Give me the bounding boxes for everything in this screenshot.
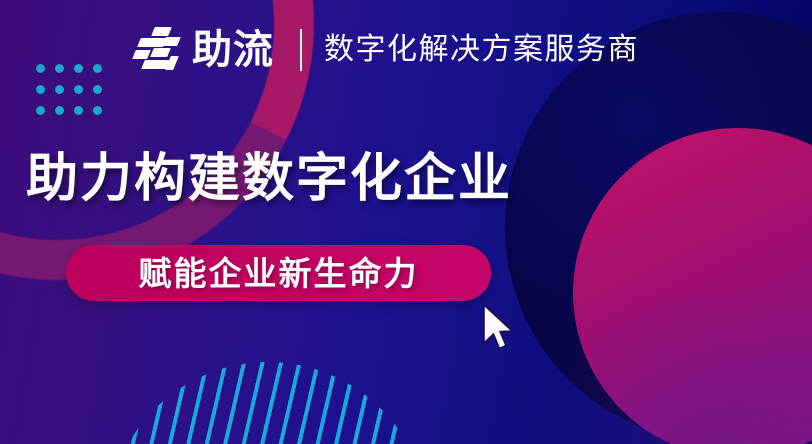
grid-dot [55, 106, 64, 115]
grid-dot [93, 106, 102, 115]
grid-dot [55, 64, 64, 73]
grid-dot [36, 64, 45, 73]
grid-dot [74, 64, 83, 73]
corner-glow [502, 294, 812, 444]
grid-dot [93, 64, 102, 73]
promotional-banner: 助流 数字化解决方案服务商 助力构建数字化企业 赋能企业新生命力 [0, 0, 812, 444]
page-title: 助力构建数字化企业 [26, 150, 512, 208]
lightning-bolt-blocks-icon [130, 26, 182, 74]
grid-dot [36, 106, 45, 115]
grid-dot [74, 85, 83, 94]
dot-grid-icon [36, 64, 112, 127]
magenta-circle-icon [573, 128, 812, 444]
brand-header: 助流 数字化解决方案服务商 [130, 22, 639, 78]
slogan-badge[interactable]: 赋能企业新生命力 [66, 245, 491, 301]
grid-dot [36, 85, 45, 94]
grid-dot [55, 85, 64, 94]
slogan-badge-label: 赋能企业新生命力 [139, 257, 419, 290]
arrow-pointer-icon [481, 303, 515, 351]
diagonal-stripe-fan-icon [95, 349, 442, 444]
brand-name: 助流 [192, 30, 274, 70]
stripe-pattern [95, 349, 442, 444]
grid-dot [74, 106, 83, 115]
brand-tagline: 数字化解决方案服务商 [324, 35, 639, 65]
vertical-divider [300, 29, 302, 71]
grid-dot [93, 85, 102, 94]
